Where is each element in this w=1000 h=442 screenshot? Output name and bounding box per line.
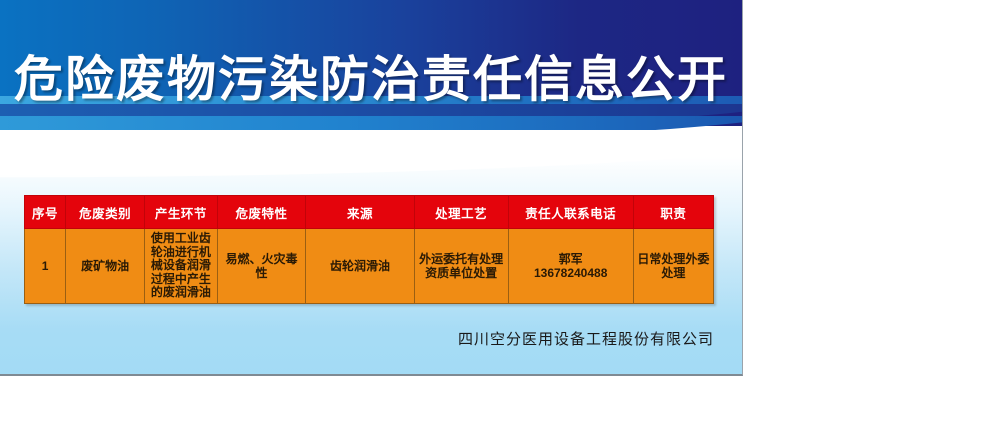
hazardous-waste-table: 序号 危废类别 产生环节 危废特性 来源 处理工艺 责任人联系电话 职责 1 废… — [24, 195, 714, 304]
information-poster: 危险废物污染防治责任信息公开 序号 危废类别 产生环节 危废特性 来源 处理工艺… — [0, 0, 743, 376]
cell-category: 废矿物油 — [66, 229, 145, 304]
cell-process: 外运委托有处理资质单位处置 — [414, 229, 508, 304]
cell-stage: 使用工业齿轮油进行机械设备润滑过程中产生的废润滑油 — [145, 229, 218, 304]
hazardous-waste-table-wrapper: 序号 危废类别 产生环节 危废特性 来源 处理工艺 责任人联系电话 职责 1 废… — [24, 195, 714, 304]
contact-person-phone: 13678240488 — [512, 266, 630, 280]
header-category: 危废类别 — [66, 196, 145, 229]
header-contact-phone: 责任人联系电话 — [508, 196, 633, 229]
cell-characteristics: 易燃、火灾毒性 — [217, 229, 305, 304]
contact-person-name: 郭军 — [512, 252, 630, 266]
header-duty: 职责 — [633, 196, 713, 229]
header-stage: 产生环节 — [145, 196, 218, 229]
cell-duty: 日常处理外委处理 — [633, 229, 713, 304]
cell-source: 齿轮润滑油 — [306, 229, 415, 304]
cell-contact: 郭军 13678240488 — [508, 229, 633, 304]
header-index: 序号 — [25, 196, 66, 229]
banner-wave-white — [0, 130, 742, 204]
header-characteristics: 危废特性 — [217, 196, 305, 229]
header-source: 来源 — [306, 196, 415, 229]
table-row: 1 废矿物油 使用工业齿轮油进行机械设备润滑过程中产生的废润滑油 易燃、火灾毒性… — [25, 229, 714, 304]
header-process: 处理工艺 — [414, 196, 508, 229]
company-name: 四川空分医用设备工程股份有限公司 — [0, 328, 714, 349]
cell-index: 1 — [25, 229, 66, 304]
poster-title: 危险废物污染防治责任信息公开 — [0, 48, 742, 112]
table-header-row: 序号 危废类别 产生环节 危废特性 来源 处理工艺 责任人联系电话 职责 — [25, 196, 714, 229]
